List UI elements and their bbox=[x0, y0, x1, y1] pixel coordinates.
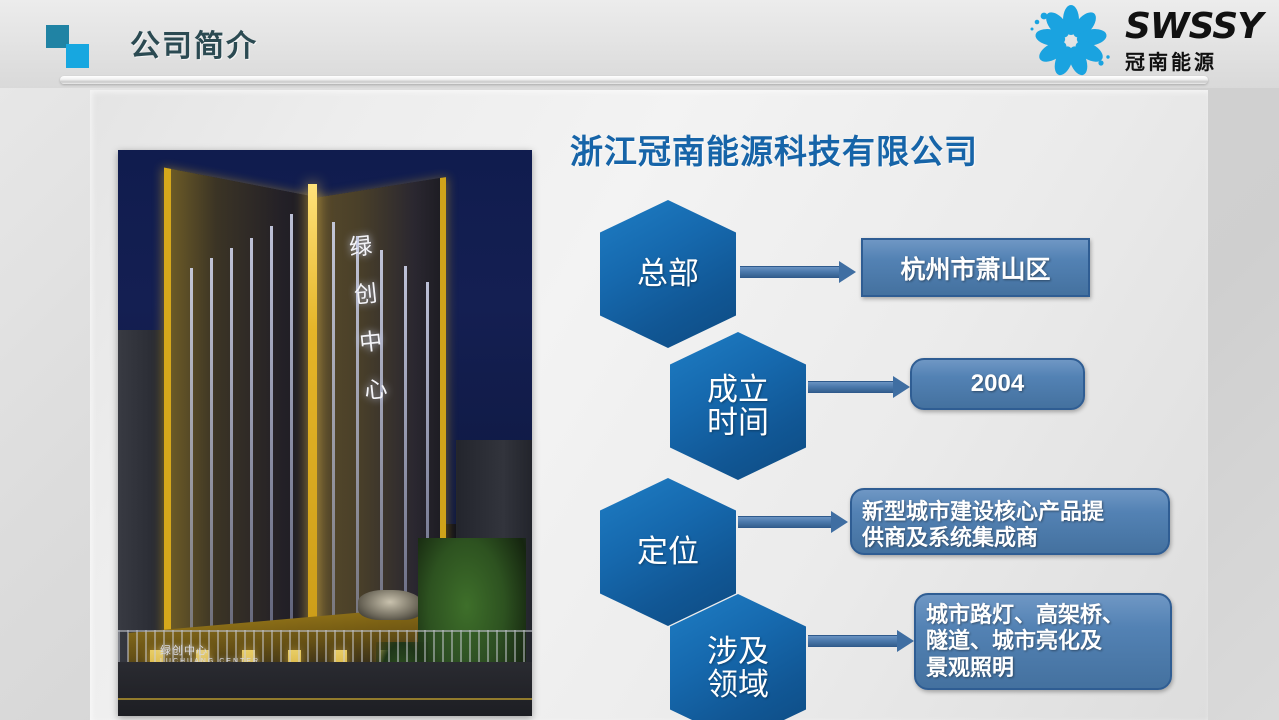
arrow-positioning bbox=[738, 515, 848, 529]
hexagon-founded[interactable]: 成立 时间 bbox=[670, 332, 806, 480]
company-name-heading: 浙江冠南能源科技有限公司 bbox=[570, 125, 978, 173]
callout-line: 新型城市建设核心产品提 bbox=[862, 499, 1158, 525]
hexagon-founded-labels: 成立 时间 bbox=[707, 373, 769, 440]
callout-positioning[interactable]: 新型城市建设核心产品提 供商及系统集成商 bbox=[850, 488, 1170, 555]
hexagon-label-line: 成立 bbox=[707, 373, 769, 406]
arrow-founded bbox=[808, 380, 910, 394]
building-photo: 绿创中心 绿创中心 LUCHUANG CENTER bbox=[118, 150, 532, 716]
hexagon-label-line: 涉及 bbox=[707, 635, 769, 668]
photo-road-marking bbox=[118, 698, 532, 700]
hexagon-label-line: 时间 bbox=[707, 406, 769, 439]
callout-headquarters[interactable]: 杭州市萧山区 bbox=[861, 238, 1090, 297]
arrow-fields bbox=[808, 634, 914, 648]
arrow-head-icon bbox=[897, 630, 914, 652]
callout-line: 供商及系统集成商 bbox=[862, 525, 1158, 551]
arrow-head-icon bbox=[831, 511, 848, 533]
photo-fence bbox=[118, 630, 532, 664]
arrow-head-icon bbox=[839, 261, 856, 283]
callout-line: 隧道、城市亮化及 bbox=[926, 628, 1160, 654]
logo-wordmark: SWSSY bbox=[1125, 6, 1262, 47]
hexagon-label-line: 总部 bbox=[637, 257, 699, 290]
callout-line: 景观照明 bbox=[926, 655, 1160, 681]
hexagon-positioning[interactable]: 定位 bbox=[600, 478, 736, 626]
logo-chinese-name: 冠南能源 bbox=[1125, 46, 1262, 75]
square-light-icon bbox=[66, 44, 89, 68]
hexagon-label-line: 定位 bbox=[637, 535, 699, 568]
callout-fields[interactable]: 城市路灯、高架桥、 隧道、城市亮化及 景观照明 bbox=[914, 593, 1172, 690]
decorative-squares bbox=[46, 25, 98, 69]
hexagon-label-line: 领域 bbox=[707, 668, 769, 701]
photo-building-left-facade bbox=[164, 167, 321, 668]
slide-header: 公司简介 bbox=[0, 0, 1279, 88]
arrow-headquarters bbox=[740, 265, 856, 279]
petal-flower-logo-icon bbox=[1021, 4, 1121, 78]
arrow-shaft bbox=[738, 516, 831, 528]
info-column: 浙江冠南能源科技有限公司 总部 杭州市萧山区 成立 时间 2004 bbox=[560, 110, 1220, 710]
photo-road bbox=[118, 662, 532, 716]
hexagon-headquarters[interactable]: 总部 bbox=[600, 200, 736, 348]
hexagon-positioning-labels: 定位 bbox=[637, 535, 699, 568]
hexagon-fields-labels: 涉及 领域 bbox=[707, 635, 769, 702]
callout-founded-year[interactable]: 2004 bbox=[910, 358, 1085, 410]
photo-rockery bbox=[358, 590, 422, 620]
arrow-shaft bbox=[740, 266, 839, 278]
logo-text-block: SWSSY 冠南能源 bbox=[1125, 6, 1262, 75]
arrow-shaft bbox=[808, 635, 897, 647]
hexagon-headquarters-labels: 总部 bbox=[637, 257, 699, 290]
callout-line: 2004 bbox=[971, 370, 1024, 398]
arrow-head-icon bbox=[893, 376, 910, 398]
arrow-shaft bbox=[808, 381, 893, 393]
callout-line: 城市路灯、高架桥、 bbox=[926, 602, 1160, 628]
photo-building-lit-edge bbox=[308, 184, 317, 674]
page-title: 公司简介 bbox=[130, 21, 258, 65]
slide-canvas: 公司简介 bbox=[0, 0, 1279, 720]
callout-line: 杭州市萧山区 bbox=[900, 250, 1050, 286]
brand-logo: SWSSY 冠南能源 bbox=[1021, 2, 1271, 80]
